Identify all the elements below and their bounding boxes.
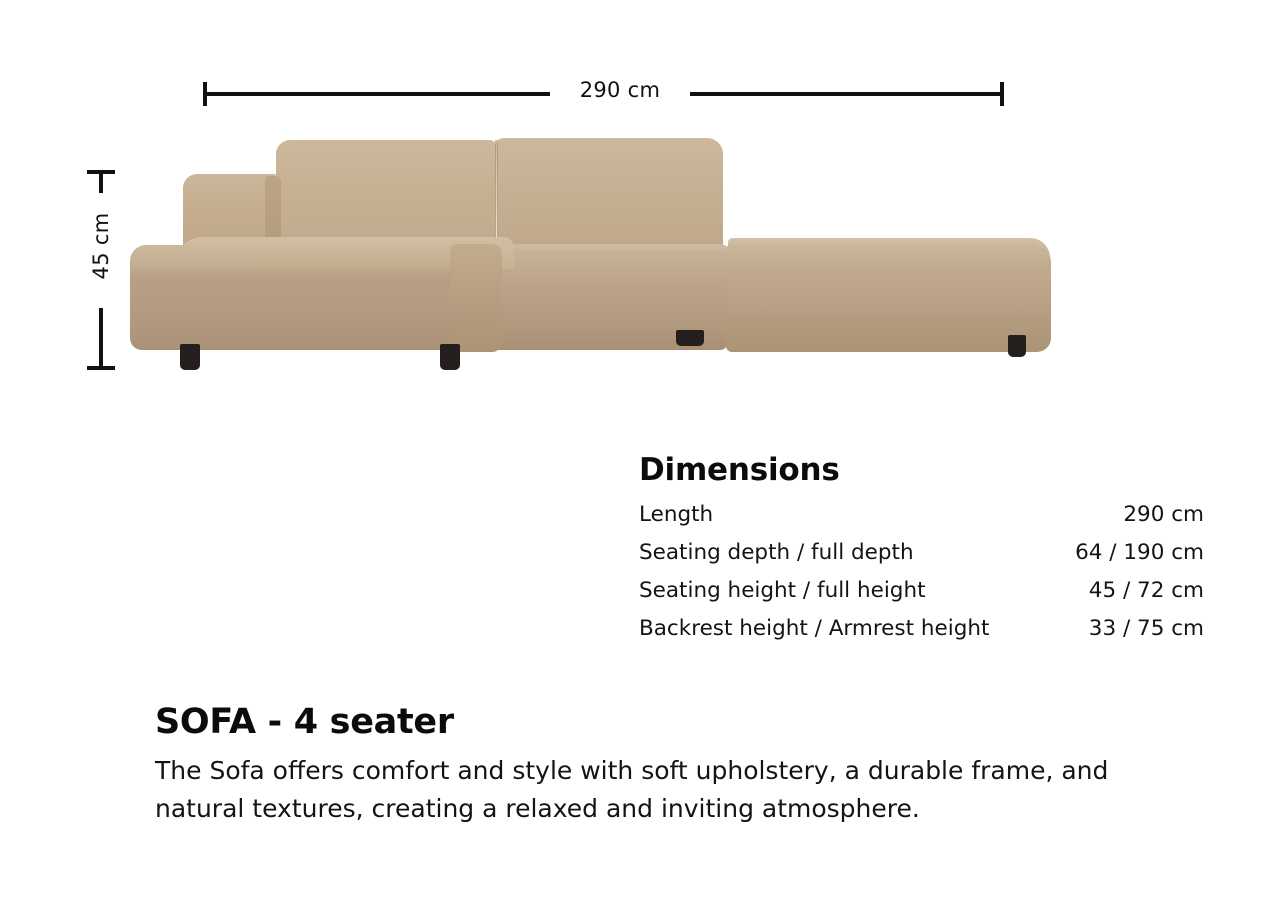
dimension-value: 64 / 190 cm bbox=[1075, 534, 1204, 572]
dimensions-section: Dimensions Length 290 cm Seating depth /… bbox=[639, 452, 1204, 648]
width-dimension-callout: 290 cm bbox=[203, 82, 1004, 106]
dimensions-row-length: Length 290 cm bbox=[639, 496, 1204, 534]
foot-chaise-right bbox=[440, 344, 460, 370]
dimension-label: Seating height / full height bbox=[639, 572, 926, 610]
dimensions-row-depth: Seating depth / full depth 64 / 190 cm bbox=[639, 534, 1204, 572]
product-description: The Sofa offers comfort and style with s… bbox=[155, 752, 1185, 828]
height-dimension-callout: 45 cm bbox=[84, 170, 118, 370]
dimensions-row-backrest: Backrest height / Armrest height 33 / 75… bbox=[639, 610, 1204, 648]
dimension-label: Length bbox=[639, 496, 713, 534]
dimension-value: 33 / 75 cm bbox=[1089, 610, 1204, 648]
right-open-end-module bbox=[726, 244, 1051, 352]
dimension-line-left bbox=[203, 92, 558, 96]
height-dimension-label: 45 cm bbox=[87, 193, 115, 299]
product-title: SOFA - 4 seater bbox=[155, 702, 1215, 742]
chaise-seat-module bbox=[130, 245, 490, 350]
foot-right bbox=[1008, 335, 1026, 357]
sofa-illustration bbox=[128, 132, 1053, 382]
dimension-label: Backrest height / Armrest height bbox=[639, 610, 989, 648]
foot-front-left bbox=[180, 344, 200, 370]
dimension-line-right bbox=[688, 92, 1004, 96]
product-section: SOFA - 4 seater The Sofa offers comfort … bbox=[155, 702, 1215, 828]
dimension-line-bottom bbox=[99, 308, 103, 370]
chaise-end-panel bbox=[450, 244, 502, 352]
dimensions-heading: Dimensions bbox=[639, 452, 1204, 488]
dimensions-row-height: Seating height / full height 45 / 72 cm bbox=[639, 572, 1204, 610]
dimension-end-cap-right bbox=[1000, 82, 1004, 106]
width-dimension-label: 290 cm bbox=[550, 78, 690, 102]
dimension-label: Seating depth / full depth bbox=[639, 534, 914, 572]
foot-middle bbox=[676, 330, 704, 346]
dimension-value: 45 / 72 cm bbox=[1089, 572, 1204, 610]
dimension-end-cap-bottom bbox=[87, 366, 115, 370]
dimension-value: 290 cm bbox=[1123, 496, 1204, 534]
